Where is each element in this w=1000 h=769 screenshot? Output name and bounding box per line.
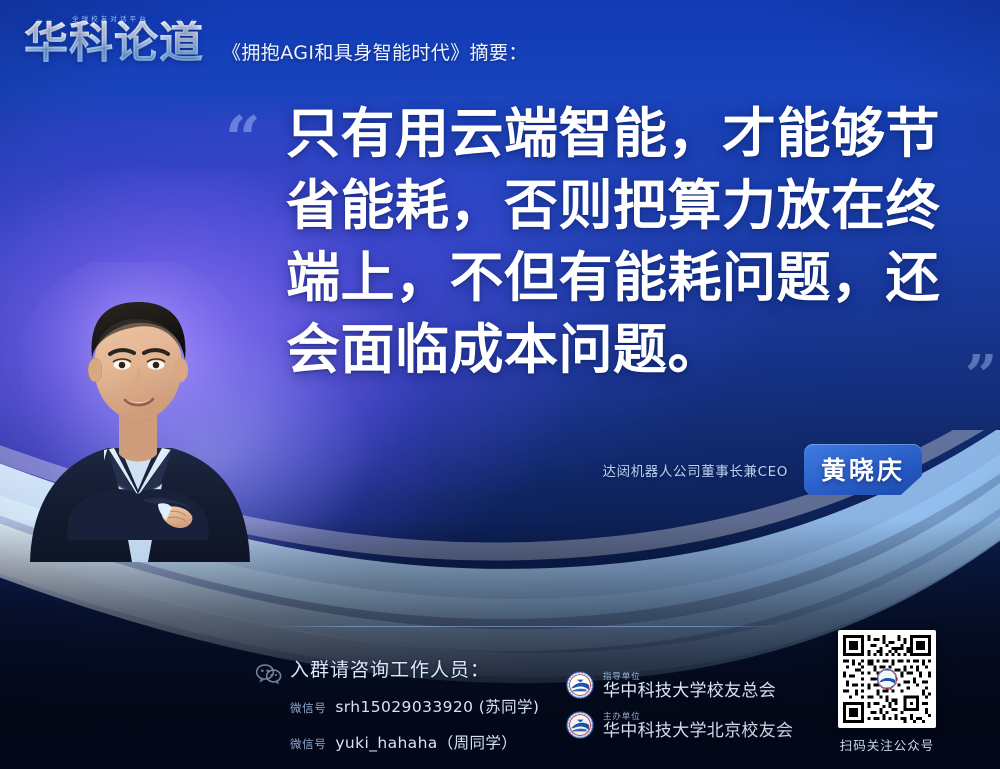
poster-canvas: 全球校友对话平台 华科论道 《拥抱AGI和具身智能时代》摘要： “ 只有用云端智… xyxy=(0,0,1000,769)
qr-code-block: 扫码关注公众号 xyxy=(838,630,936,754)
contact-label: 微信号 xyxy=(290,736,326,752)
attribution: 达闼机器人公司董事长兼CEO 黄晓庆 xyxy=(603,444,923,495)
brand-name: 华科论道 xyxy=(24,21,204,65)
speaker-role: 达闼机器人公司董事长兼CEO xyxy=(603,460,788,480)
quote-open-mark: “ xyxy=(225,108,261,170)
page-title: 《拥抱AGI和具身智能时代》摘要： xyxy=(222,38,528,65)
quote-close-mark: ” xyxy=(965,348,997,404)
footer-divider xyxy=(268,626,784,627)
contact-value[interactable]: srh15029033920 (苏同学) xyxy=(335,695,539,717)
poster-header: 全球校友对话平台 华科论道 《拥抱AGI和具身智能时代》摘要： xyxy=(0,0,1000,96)
qr-caption: 扫码关注公众号 xyxy=(838,735,936,754)
quote-line: 端上，不但有能耗问题，还 xyxy=(286,242,946,314)
brand-logo[interactable]: 全球校友对话平台 华科论道 xyxy=(24,12,220,78)
qr-code-image[interactable] xyxy=(838,630,936,728)
quote-text: 只有用云端智能，才能够节 省能耗，否则把算力放在终 端上，不但有能耗问题，还 会… xyxy=(286,98,946,386)
quote-line: 会面临成本问题。 xyxy=(286,314,946,386)
quote-line: 只有用云端智能，才能够节 xyxy=(286,98,946,170)
speaker-name-badge: 黄晓庆 xyxy=(804,444,922,495)
contact-row: 微信号 srh15029033920 (苏同学) xyxy=(290,695,539,717)
contact-label: 微信号 xyxy=(290,700,326,716)
quote-block: “ 只有用云端智能，才能够节 省能耗，否则把算力放在终 端上，不但有能耗问题，还… xyxy=(230,98,950,386)
contact-row: 微信号 yuki_hahaha（周同学） xyxy=(290,731,517,753)
wechat-icon xyxy=(256,663,282,685)
quote-line: 省能耗，否则把算力放在终 xyxy=(286,170,946,242)
join-instruction: 入群请咨询工作人员： xyxy=(290,655,490,682)
contact-value[interactable]: yuki_hahaha（周同学） xyxy=(335,731,517,753)
speaker-portrait xyxy=(22,262,254,562)
